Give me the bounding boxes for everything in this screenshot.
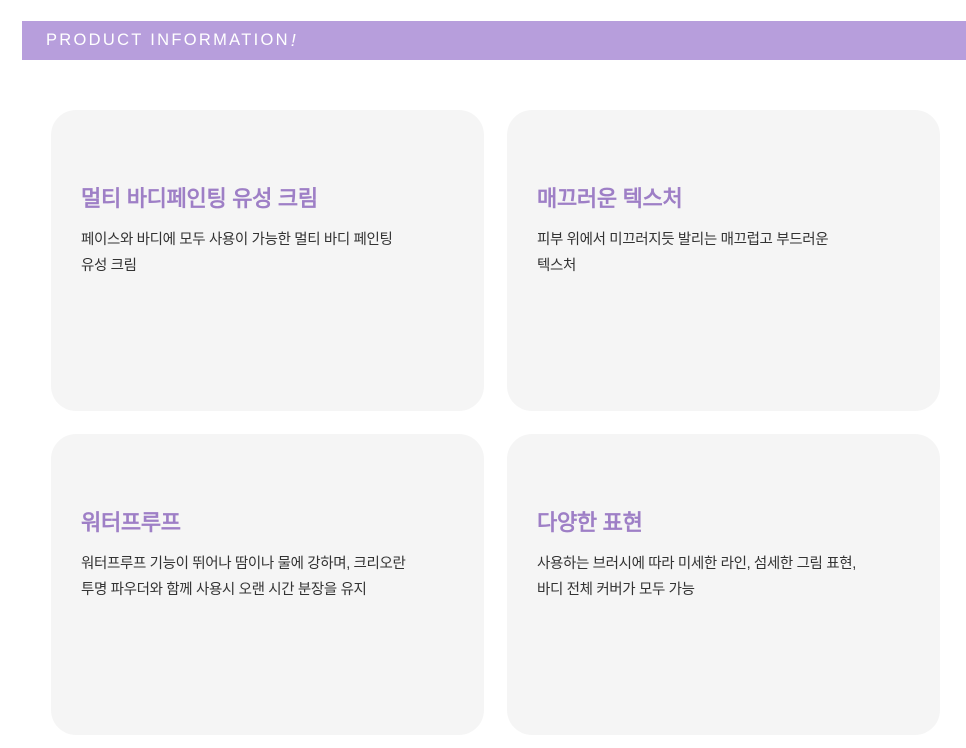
- section-banner-title: PRODUCT INFORMATION: [46, 31, 290, 50]
- section-banner: PRODUCT INFORMATION!: [22, 21, 966, 60]
- feature-card-content: 워터프루프 워터프루프 기능이 뛰어나 땀이나 물에 강하며, 크리오란 투명 …: [81, 509, 462, 603]
- feature-card-grid: 멀티 바디페인팅 유성 크림 페이스와 바디에 모두 사용이 가능한 멀티 바디…: [51, 110, 940, 735]
- product-information-page: PRODUCT INFORMATION! 멀티 바디페인팅 유성 크림 페이스와…: [0, 0, 966, 748]
- feature-card-title: 멀티 바디페인팅 유성 크림: [81, 185, 462, 213]
- feature-card-multi-body-painting: 멀티 바디페인팅 유성 크림 페이스와 바디에 모두 사용이 가능한 멀티 바디…: [51, 110, 484, 411]
- feature-card-description: 사용하는 브러시에 따라 미세한 라인, 섬세한 그림 표현, 바디 전체 커버…: [537, 551, 918, 603]
- feature-card-various-expression: 다양한 표현 사용하는 브러시에 따라 미세한 라인, 섬세한 그림 표현, 바…: [507, 434, 940, 735]
- feature-card-title: 매끄러운 텍스처: [537, 185, 918, 213]
- feature-card-description: 페이스와 바디에 모두 사용이 가능한 멀티 바디 페인팅 유성 크림: [81, 227, 462, 279]
- section-banner-exclamation-mark: !: [290, 30, 296, 51]
- feature-card-smooth-texture: 매끄러운 텍스처 피부 위에서 미끄러지듯 발리는 매끄럽고 부드러운 텍스처: [507, 110, 940, 411]
- feature-card-content: 다양한 표현 사용하는 브러시에 따라 미세한 라인, 섬세한 그림 표현, 바…: [537, 509, 918, 603]
- feature-card-description: 워터프루프 기능이 뛰어나 땀이나 물에 강하며, 크리오란 투명 파우더와 함…: [81, 551, 462, 603]
- feature-card-description: 피부 위에서 미끄러지듯 발리는 매끄럽고 부드러운 텍스처: [537, 227, 918, 279]
- feature-card-content: 멀티 바디페인팅 유성 크림 페이스와 바디에 모두 사용이 가능한 멀티 바디…: [81, 185, 462, 279]
- feature-card-content: 매끄러운 텍스처 피부 위에서 미끄러지듯 발리는 매끄럽고 부드러운 텍스처: [537, 185, 918, 279]
- feature-card-title: 워터프루프: [81, 509, 462, 537]
- feature-card-title: 다양한 표현: [537, 509, 918, 537]
- feature-card-waterproof: 워터프루프 워터프루프 기능이 뛰어나 땀이나 물에 강하며, 크리오란 투명 …: [51, 434, 484, 735]
